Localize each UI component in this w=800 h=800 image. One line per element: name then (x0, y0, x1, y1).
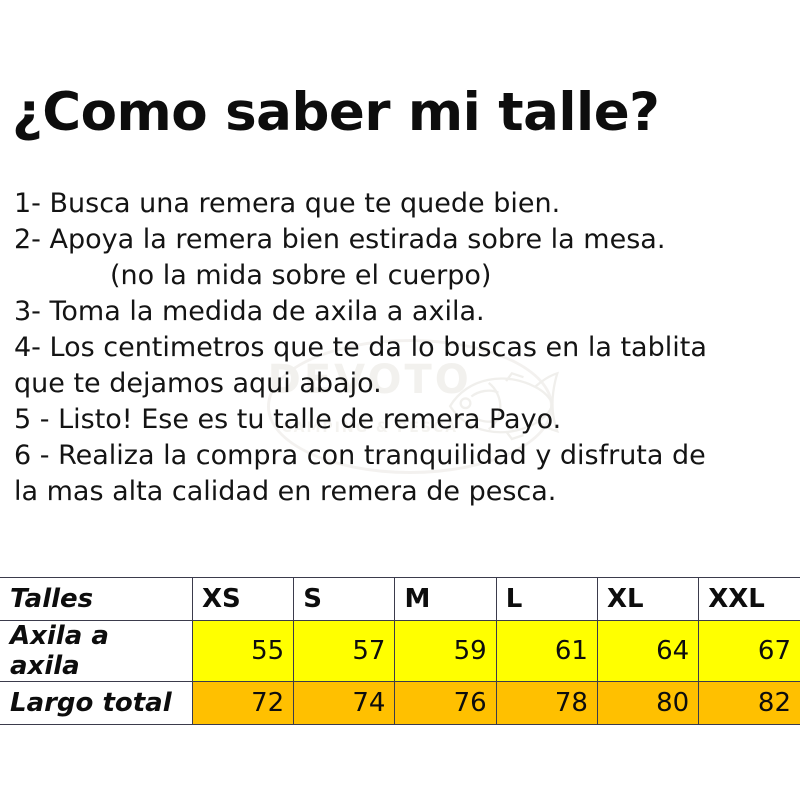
table-header-size-s: S (294, 578, 395, 621)
cell-axila-m: 59 (395, 621, 496, 682)
cell-largo-xl: 80 (597, 682, 698, 725)
instruction-step: 1- Busca una remera que te quede bien. (14, 186, 794, 222)
instruction-step: 3- Toma la medida de axila a axila. (14, 294, 794, 330)
instruction-step-continuation: que te dejamos aqui abajo. (14, 366, 794, 402)
instruction-step: 5 - Listo! Ese es tu talle de remera Pay… (14, 402, 794, 438)
cell-largo-m: 76 (395, 682, 496, 725)
cell-axila-xl: 64 (597, 621, 698, 682)
table-header-talles: Talles (0, 578, 192, 621)
cell-axila-xs: 55 (192, 621, 293, 682)
table-header-size-m: M (395, 578, 496, 621)
table-header-row: Talles XS S M L XL XXL (0, 578, 800, 621)
table-row: Axila a axila 55 57 59 61 64 67 (0, 621, 800, 682)
instruction-note: (no la mida sobre el cuerpo) (14, 258, 794, 294)
instruction-list: 1- Busca una remera que te quede bien. 2… (14, 186, 794, 510)
instruction-step: 2- Apoya la remera bien estirada sobre l… (14, 222, 794, 258)
cell-largo-l: 78 (496, 682, 597, 725)
table-row: Largo total 72 74 76 78 80 82 (0, 682, 800, 725)
cell-axila-xxl: 67 (699, 621, 800, 682)
cell-axila-s: 57 (294, 621, 395, 682)
cell-largo-xs: 72 (192, 682, 293, 725)
page-title: ¿Como saber mi talle? (12, 86, 659, 139)
cell-largo-xxl: 82 (699, 682, 800, 725)
cell-largo-s: 74 (294, 682, 395, 725)
size-chart-table: Talles XS S M L XL XXL Axila a axila 55 … (0, 577, 800, 725)
instruction-step: 6 - Realiza la compra con tranquilidad y… (14, 438, 794, 474)
row-label-largo: Largo total (0, 682, 192, 725)
table-header-size-xxl: XXL (699, 578, 800, 621)
size-guide-page: DEVOTO CAMPING & PESCA DEVOTO CAMPI (0, 0, 800, 800)
table-header-size-xs: XS (192, 578, 293, 621)
instruction-step: 4- Los centimetros que te da lo buscas e… (14, 330, 794, 366)
cell-axila-l: 61 (496, 621, 597, 682)
table-header-size-xl: XL (597, 578, 698, 621)
table-header-size-l: L (496, 578, 597, 621)
row-label-axila: Axila a axila (0, 621, 192, 682)
instruction-step-continuation: la mas alta calidad en remera de pesca. (14, 474, 794, 510)
